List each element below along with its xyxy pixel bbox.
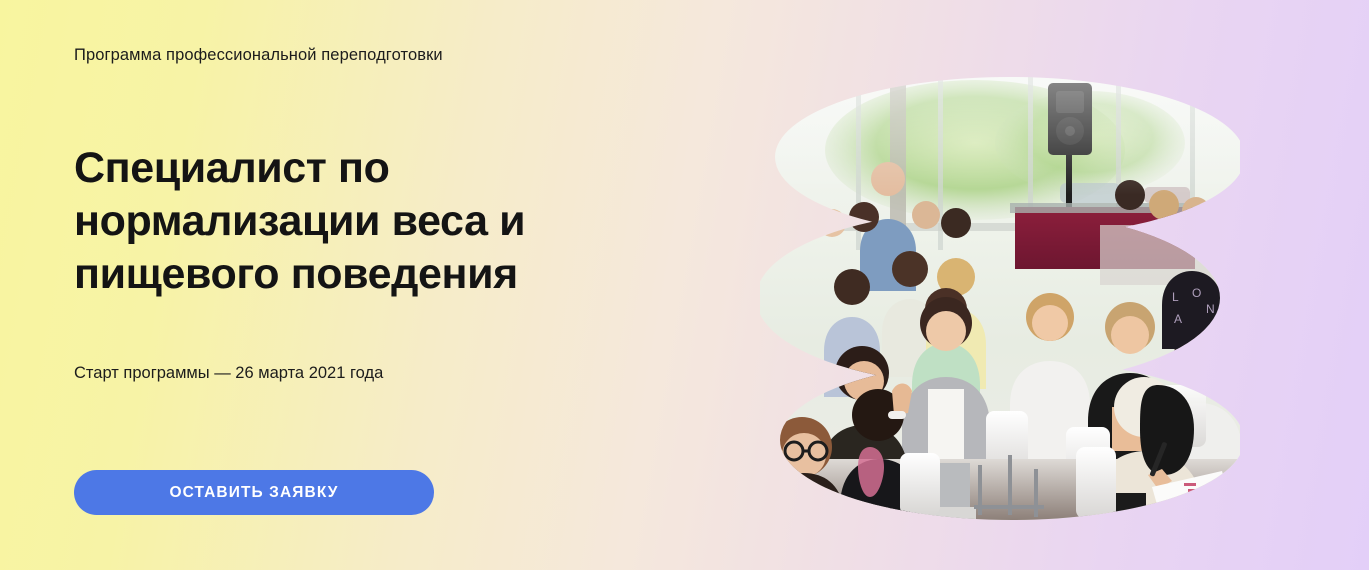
program-type-eyebrow: Программа профессиональной переподготовк…	[74, 44, 443, 66]
svg-text:A: A	[1174, 312, 1182, 326]
collage-photo: LO NA	[760, 55, 1240, 520]
program-start-date: Старт программы — 26 марта 2021 года	[74, 362, 383, 384]
page-title: Специалист по нормализации веса и пищево…	[74, 142, 674, 301]
svg-text:O: O	[1192, 286, 1201, 300]
hero-text-column: Программа профессиональной переподготовк…	[74, 0, 694, 570]
hero-banner: Программа профессиональной переподготовк…	[0, 0, 1369, 570]
audience-photo-collage: LO NA	[760, 55, 1240, 520]
submit-application-button[interactable]: ОСТАВИТЬ ЗАЯВКУ	[74, 470, 434, 515]
svg-text:N: N	[1206, 302, 1215, 316]
collage-svg: LO NA	[760, 55, 1240, 520]
svg-text:L: L	[1172, 290, 1179, 304]
